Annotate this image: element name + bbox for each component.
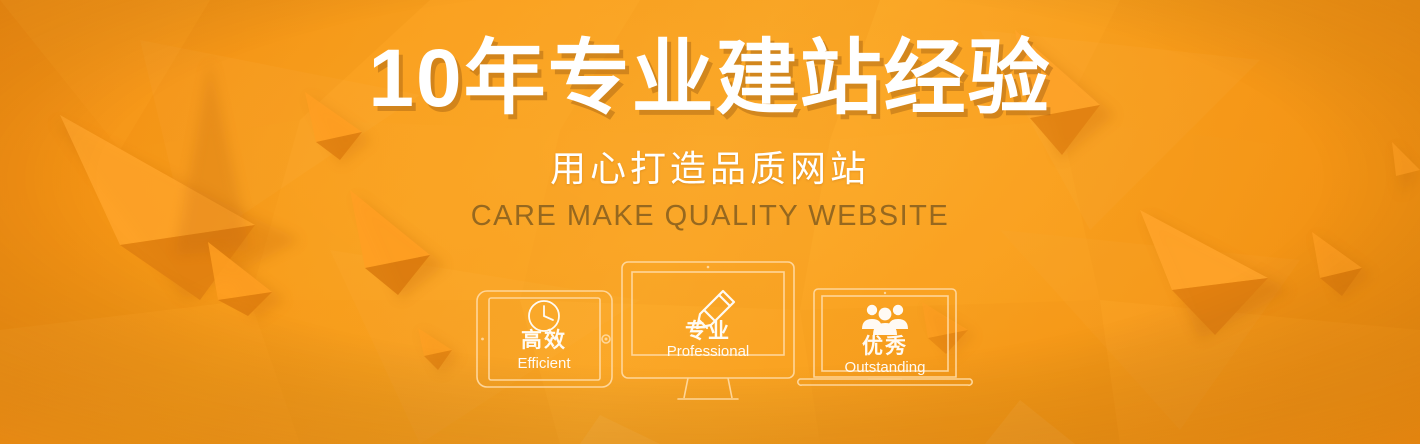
laptop-base: [798, 379, 972, 385]
feature-label-en-professional: Professional: [667, 343, 750, 360]
feature-card-professional[interactable]: 专业 Professional: [622, 262, 794, 399]
monitor-camera-dot: [707, 266, 710, 269]
tablet-home-button-inner: [605, 338, 608, 341]
feature-label-en-efficient: Efficient: [517, 355, 571, 372]
feature-card-efficient[interactable]: 高效 Efficient: [477, 291, 612, 387]
clock-icon: [529, 301, 559, 331]
people-group-icon: [862, 305, 908, 335]
subtitle-english: CARE MAKE QUALITY WEBSITE: [471, 200, 950, 233]
page-title: 10年专业建站经验: [368, 38, 1051, 120]
feature-card-outstanding[interactable]: 优秀 Outstanding: [798, 289, 972, 385]
feature-label-cn-outstanding: 优秀: [862, 334, 908, 358]
feature-label-cn-professional: 专业: [685, 319, 731, 343]
feature-device-row: 高效 Efficient: [0, 248, 1420, 418]
feature-devices-svg: 高效 Efficient: [0, 248, 1420, 418]
laptop-camera-dot: [884, 292, 886, 294]
subtitle-chinese: 用心打造品质网站: [550, 140, 870, 192]
tablet-camera-dot: [481, 338, 484, 341]
feature-label-cn-efficient: 高效: [521, 328, 567, 352]
feature-label-en-outstanding: Outstanding: [845, 359, 926, 376]
monitor-stand-neck: [684, 378, 732, 398]
promo-banner: 10年专业建站经验 用心打造品质网站 CARE MAKE QUALITY WEB…: [0, 0, 1420, 444]
